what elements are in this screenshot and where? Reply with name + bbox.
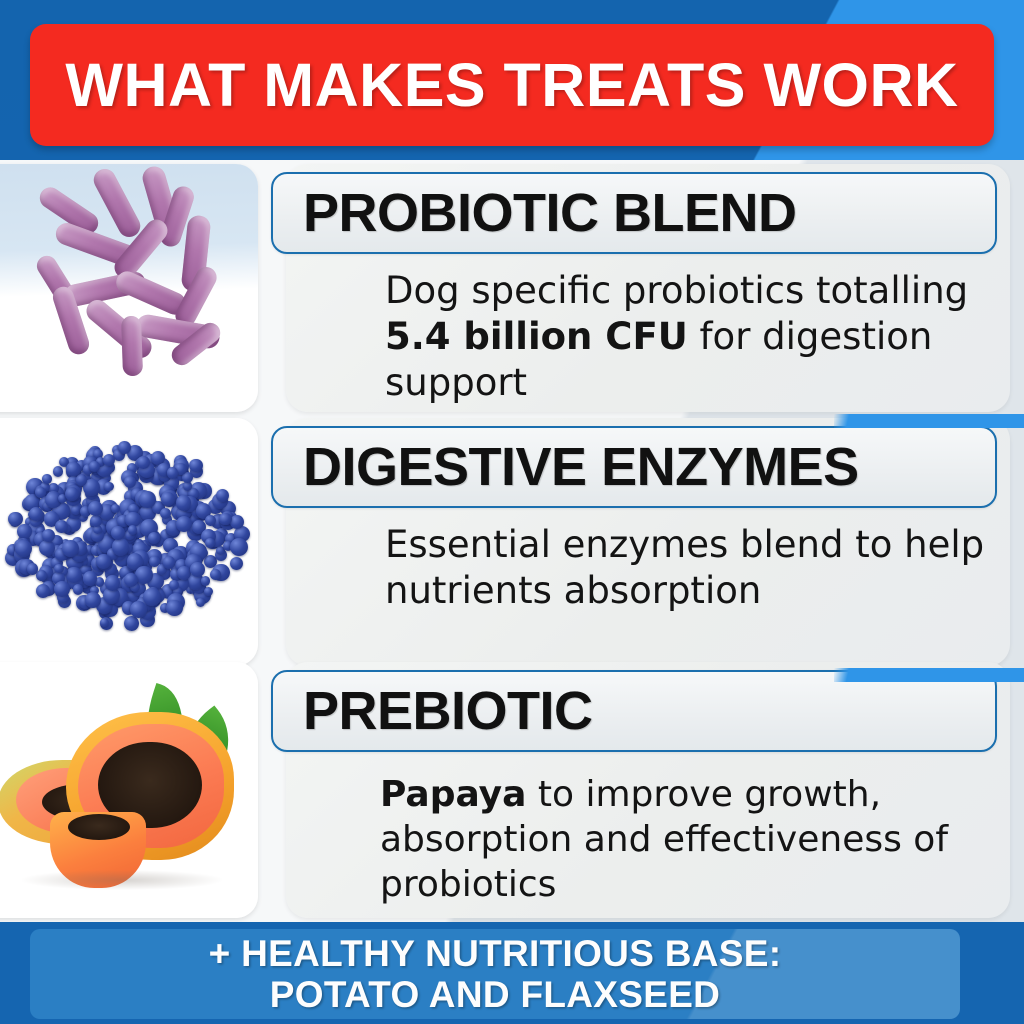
enzyme-sphere (66, 567, 81, 582)
section-body-text: Papaya to improve growth, absorption and… (380, 772, 1024, 907)
enzyme-sphere (111, 504, 120, 513)
enzyme-sphere (53, 466, 64, 477)
section-body-text: Essential enzymes blend to help nutrient… (385, 522, 1024, 614)
enzyme-sphere (118, 441, 131, 454)
enzyme-sphere (104, 482, 114, 492)
enzyme-sphere (124, 573, 138, 587)
section-digestive-enzymes: DIGESTIVE ENZYMES Essential enzymes blen… (0, 418, 1024, 666)
enzyme-sphere (62, 540, 79, 557)
section-body-highlight: 5.4 billion CFU (385, 315, 688, 358)
enzyme-sphere (73, 584, 83, 594)
enzyme-sphere (230, 515, 244, 529)
section-image-card (0, 662, 258, 918)
enzyme-sphere (128, 525, 137, 534)
enzyme-sphere (35, 487, 46, 498)
enzyme-sphere (230, 557, 244, 571)
page-title: WHAT MAKES TREATS WORK (65, 50, 958, 120)
enzyme-sphere (29, 507, 43, 521)
section-probiotic-blend: PROBIOTIC BLEND Dog specific probiotics … (0, 164, 1024, 412)
enzyme-sphere (190, 562, 205, 577)
probiotic-bacteria-illustration (0, 164, 258, 412)
section-heading: DIGESTIVE ENZYMES (303, 436, 859, 498)
enzyme-sphere (124, 616, 139, 631)
enzyme-sphere (83, 571, 97, 585)
enzyme-sphere (166, 600, 182, 616)
footer-line-1: + HEALTHY NUTRITIOUS BASE: (209, 933, 782, 974)
footer-area: + HEALTHY NUTRITIOUS BASE: POTATO AND FL… (0, 922, 1024, 1024)
enzyme-sphere (169, 580, 179, 590)
section-heading-pill: PREBIOTIC (271, 670, 997, 752)
footer-line-2: POTATO AND FLAXSEED (270, 974, 720, 1015)
enzyme-sphere (54, 564, 63, 573)
enzyme-sphere (143, 588, 161, 606)
header-banner: WHAT MAKES TREATS WORK (30, 24, 994, 146)
enzyme-sphere (161, 492, 175, 506)
row-divider-stripe-2 (834, 668, 1024, 682)
enzyme-sphere (17, 524, 32, 539)
section-heading-pill: PROBIOTIC BLEND (271, 172, 997, 254)
enzyme-sphere (201, 576, 211, 586)
digestive-enzyme-molecule-illustration (0, 418, 258, 666)
section-body-highlight: Papaya (380, 774, 526, 815)
enzyme-sphere (42, 529, 55, 542)
section-body-pre: Essential enzymes blend to help nutrient… (385, 523, 984, 612)
section-heading-pill: DIGESTIVE ENZYMES (271, 426, 997, 508)
section-heading: PROBIOTIC BLEND (303, 182, 797, 244)
enzyme-sphere (65, 487, 79, 501)
infographic-poster: WHAT MAKES TREATS WORK (0, 0, 1024, 1024)
enzyme-sphere (205, 538, 215, 548)
sections-container: PROBIOTIC BLEND Dog specific probiotics … (0, 160, 1024, 922)
section-image-card (0, 418, 258, 666)
enzyme-sphere (76, 474, 88, 486)
enzyme-sphere (27, 563, 38, 574)
enzyme-sphere (85, 592, 101, 608)
section-image-card (0, 164, 258, 412)
enzyme-sphere (204, 587, 213, 596)
enzyme-sphere (130, 601, 147, 618)
enzyme-sphere (111, 526, 125, 540)
section-prebiotic: PREBIOTIC Papaya to improve growth, abso… (0, 662, 1024, 918)
enzyme-sphere (163, 556, 175, 568)
enzyme-sphere (105, 575, 120, 590)
row-divider-stripe-1 (834, 414, 1024, 428)
section-body-text: Dog specific probiotics totalling 5.4 bi… (385, 268, 1024, 406)
enzyme-sphere (89, 461, 100, 472)
enzyme-sphere (15, 540, 32, 557)
enzyme-sphere (55, 520, 68, 533)
section-heading: PREBIOTIC (303, 680, 593, 742)
enzyme-sphere (137, 456, 150, 469)
section-body-pre: Dog specific probiotics totalling (385, 269, 968, 312)
papaya-photo (0, 662, 258, 918)
enzyme-sphere (36, 570, 47, 581)
enzyme-sphere (139, 491, 156, 508)
enzyme-sphere (196, 598, 205, 607)
enzyme-sphere (210, 569, 221, 580)
enzyme-sphere (112, 538, 129, 555)
enzyme-sphere (42, 474, 51, 483)
enzyme-sphere (205, 515, 216, 526)
footer-banner: + HEALTHY NUTRITIOUS BASE: POTATO AND FL… (30, 929, 960, 1019)
